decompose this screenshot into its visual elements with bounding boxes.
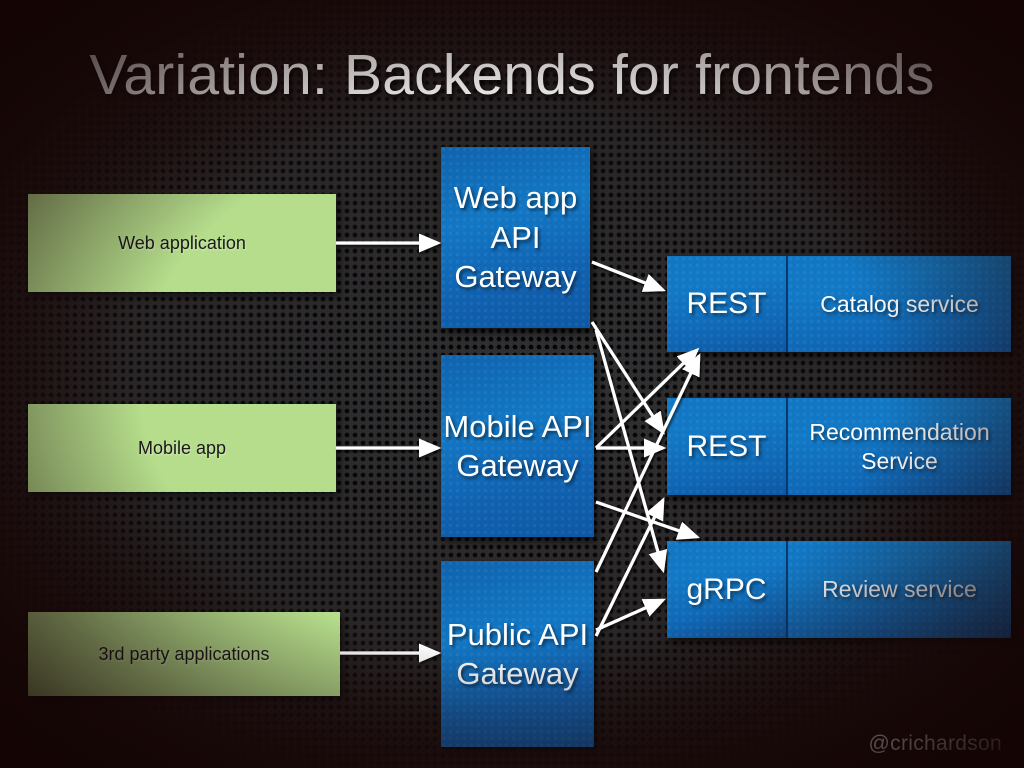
author-watermark: @crichardson xyxy=(869,732,1002,756)
gateway-label: Mobile API Gateway xyxy=(441,407,594,486)
gateway-box-web-app-api-gateway[interactable]: Web app API Gateway xyxy=(441,147,590,328)
service-protocol: gRPC xyxy=(667,541,786,638)
arrow-public-api-gateway-to-review-service xyxy=(596,600,663,630)
service-protocol: REST xyxy=(667,256,786,352)
client-label: 3rd party applications xyxy=(98,643,269,666)
service-protocol: REST xyxy=(667,398,786,495)
service-name: Catalog service xyxy=(786,256,1011,352)
page-title: Variation: Backends for frontends xyxy=(0,42,1024,108)
service-box-catalog-service[interactable]: REST Catalog service xyxy=(667,256,1011,352)
client-box-3rd-party-applications[interactable]: 3rd party applications xyxy=(28,612,340,696)
service-name: Recommendation Service xyxy=(786,398,1011,495)
client-box-mobile-app[interactable]: Mobile app xyxy=(28,404,336,492)
slide-canvas: Variation: Backends for frontends Web ap… xyxy=(0,0,1024,768)
arrow-web-app-api-gateway-to-recommendation-service xyxy=(592,322,663,432)
client-label: Web application xyxy=(118,232,246,255)
service-name: Review service xyxy=(786,541,1011,638)
gateway-box-mobile-api-gateway[interactable]: Mobile API Gateway xyxy=(441,355,594,537)
arrow-web-app-api-gateway-to-review-service xyxy=(596,330,663,570)
gateway-box-public-api-gateway[interactable]: Public API Gateway xyxy=(441,561,594,747)
client-label: Mobile app xyxy=(138,437,226,460)
service-box-review-service[interactable]: gRPC Review service xyxy=(667,541,1011,638)
arrow-web-app-api-gateway-to-catalog-service xyxy=(592,262,663,290)
service-box-recommendation-service[interactable]: REST Recommendation Service xyxy=(667,398,1011,495)
arrow-public-api-gateway-to-recommendation-service xyxy=(596,500,663,636)
arrow-mobile-api-gateway-to-review-service xyxy=(596,502,697,537)
gateway-label: Public API Gateway xyxy=(441,615,594,694)
gateway-label: Web app API Gateway xyxy=(441,178,590,296)
client-box-web-application[interactable]: Web application xyxy=(28,194,336,292)
